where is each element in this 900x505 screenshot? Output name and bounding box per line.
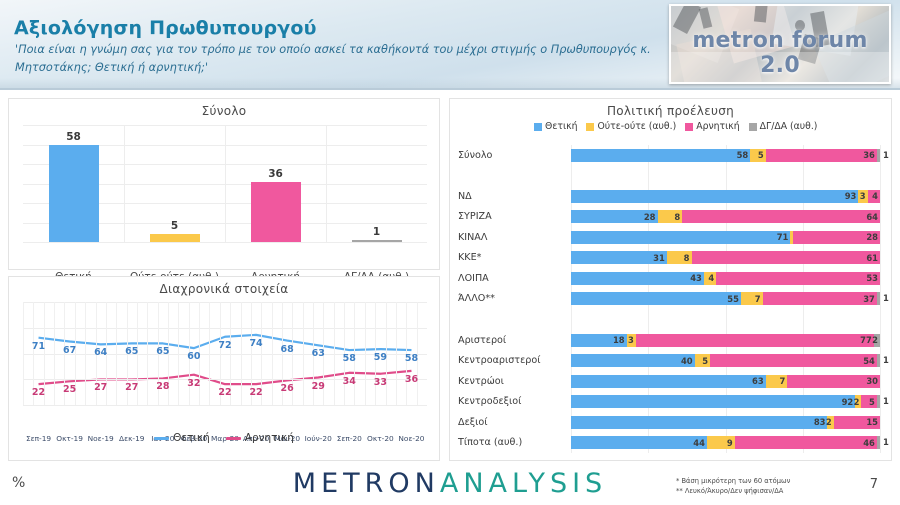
chart-row: Σύνολο585361 (458, 145, 885, 166)
bar-segment-3 (877, 149, 880, 162)
chart-synolo-title: Σύνολο (9, 99, 439, 118)
bar-segment-3 (877, 292, 880, 305)
chart-row: Κεντροαριστεροί405541 (458, 350, 885, 371)
data-point-label: 65 (125, 346, 138, 357)
stacked-bar: 183772 (571, 334, 880, 347)
data-point-label: 22 (218, 387, 231, 398)
legend-swatch (749, 123, 757, 131)
segment-value-label: 5 (869, 397, 877, 407)
page-number: 7 (870, 477, 878, 492)
segment-value-label: 43 (690, 273, 704, 283)
legend-item-Θετική[interactable]: Θετική (154, 432, 210, 444)
bar-segment-1: 4 (704, 272, 716, 285)
segment-value-label: 63 (752, 376, 766, 386)
chart-diaxronika: Διαχρονικά στοιχεία 71676465656072746863… (8, 276, 440, 461)
chart-row: ΣΥΡΙΖΑ28864 (458, 207, 885, 228)
stacked-bar: 43453 (571, 272, 880, 285)
bar-segment-0: 58 (571, 149, 750, 162)
segment-outside-label: 1 (883, 150, 889, 160)
segment-value-label: 40 (681, 356, 695, 366)
segment-value-label: 44 (693, 438, 707, 448)
gridline (23, 405, 427, 406)
segment-value-label: 2 (826, 417, 834, 427)
chart-row: Αριστεροί183772 (458, 330, 885, 351)
bar-segment-2: 36 (766, 149, 877, 162)
vertical-gridline (209, 302, 210, 405)
bar-segment-0: 40 (571, 354, 695, 367)
legend-label: Αρνητική (696, 121, 739, 134)
bar-segment-0: 92 (571, 395, 855, 408)
stacked-bar: 55737 (571, 292, 880, 305)
bar-segment-3 (877, 395, 880, 408)
data-point-label: 74 (249, 338, 262, 349)
vertical-gridline (396, 302, 397, 405)
chart-row: Κεντρώοι63730 (458, 371, 885, 392)
bar-segment-0: 83 (571, 416, 827, 429)
bar-segment-1: 5 (695, 354, 710, 367)
vertical-gridline (303, 302, 304, 405)
bar-segment-2: 15 (834, 416, 880, 429)
bar-column: 58 (23, 125, 124, 242)
data-point-label: 58 (343, 353, 356, 364)
bar-segment-0: 31 (571, 251, 667, 264)
chart-row: ΚΚΕ*31861 (458, 248, 885, 269)
bar-segment-0: 55 (571, 292, 741, 305)
chart-synolo: Σύνολο 58Θετική5Ούτε-ούτε (αυθ.)36Αρνητι… (8, 98, 440, 270)
bar-segment-1: 8 (658, 210, 683, 223)
row-label: Σύνολο (458, 150, 562, 161)
stacked-bar: 9225 (571, 395, 880, 408)
legend-swatch (685, 123, 693, 131)
segment-value-label: 5 (758, 150, 766, 160)
data-point-label: 33 (374, 377, 387, 388)
segment-outside-label: 1 (883, 355, 889, 365)
bar-segment-2: 77 (636, 334, 874, 347)
segment-value-label: 93 (845, 191, 859, 201)
bar-segment-2: 64 (682, 210, 880, 223)
bar-segment-1: 7 (741, 292, 763, 305)
bar-segment-3: 2 (874, 334, 880, 347)
stacked-bar: 63730 (571, 375, 880, 388)
segment-value-label: 36 (863, 150, 877, 160)
bar-column: 1 (326, 125, 427, 242)
segment-value-label: 7 (779, 376, 787, 386)
segment-outside-label: 1 (883, 396, 889, 406)
data-point-label: 72 (218, 340, 231, 351)
data-point-label: 34 (343, 376, 356, 387)
bar-segment-1: 8 (667, 251, 692, 264)
segment-value-label: 37 (863, 294, 877, 304)
data-point-label: 64 (94, 347, 107, 358)
segment-value-label: 46 (863, 438, 877, 448)
segment-value-label: 28 (866, 232, 880, 242)
chart-row: Κεντροδεξιοί92251 (458, 391, 885, 412)
segment-value-label: 4 (708, 273, 716, 283)
footnote-1: * Βάση μικρότερη των 60 ατόμων (676, 476, 790, 486)
row-label: Τίποτα (αυθ.) (458, 437, 562, 448)
vertical-gridline (272, 302, 273, 405)
vertical-gridline (85, 302, 86, 405)
bar-segment-2: 53 (716, 272, 880, 285)
data-point-label: 22 (32, 387, 45, 398)
legend-item-1[interactable]: Ούτε-ούτε (αυθ.) (586, 121, 676, 134)
segment-value-label: 64 (866, 212, 880, 222)
gridline (23, 379, 427, 380)
data-point-label: 60 (187, 351, 200, 362)
segment-value-label: 54 (863, 356, 877, 366)
chart-synolo-plot: 58Θετική5Ούτε-ούτε (αυθ.)36Αρνητική1ΔΓ/Δ… (23, 125, 427, 242)
bar (150, 234, 200, 242)
segment-value-label: 2 (854, 397, 862, 407)
stacked-bar: 58536 (571, 149, 880, 162)
logo-text: metron forum 2.0 (671, 28, 889, 78)
chart-politiki-legend: ΘετικήΟύτε-ούτε (αυθ.)ΑρνητικήΔΓ/ΔΑ (αυθ… (534, 121, 884, 136)
legend-label: Θετική (173, 432, 210, 444)
bar-segment-0: 18 (571, 334, 627, 347)
segment-value-label: 3 (628, 335, 636, 345)
data-point-label: 36 (405, 374, 418, 385)
vertical-gridline (54, 302, 55, 405)
chart-row: Τίποτα (αυθ.)449461 (458, 432, 885, 453)
data-point-label: 28 (156, 381, 169, 392)
segment-value-label: 8 (674, 212, 682, 222)
segment-value-label: 9 (727, 438, 735, 448)
bar-segment-1: 3 (858, 190, 867, 203)
vertical-gridline (178, 302, 179, 405)
bar-value-label: 36 (268, 168, 283, 180)
row-label: ΆΛΛΟ** (458, 293, 562, 304)
segment-value-label: 5 (702, 356, 710, 366)
data-point-label: 32 (187, 378, 200, 389)
data-point-label: 25 (63, 384, 76, 395)
bar-value-label: 5 (171, 220, 178, 232)
footnotes: * Βάση μικρότερη των 60 ατόμων ** Λευκό/… (676, 476, 790, 496)
chart-politiki-title: Πολιτική προέλευση (450, 99, 891, 118)
segment-value-label: 15 (866, 417, 880, 427)
bar-column: 36 (225, 125, 326, 242)
bar-segment-3 (877, 354, 880, 367)
bar-segment-0: 44 (571, 436, 707, 449)
row-label: ΝΔ (458, 191, 562, 202)
vertical-gridline (116, 302, 117, 405)
chart-diaxronika-title: Διαχρονικά στοιχεία (9, 277, 439, 296)
segment-outside-label: 1 (883, 437, 889, 447)
chart-politiki-proelefsi: Πολιτική προέλευση ΘετικήΟύτε-ούτε (αυθ.… (449, 98, 892, 461)
gridline (23, 242, 427, 243)
segment-value-label: 55 (727, 294, 741, 304)
bar-segment-0: 63 (571, 375, 766, 388)
bar-segment-1: 9 (707, 436, 735, 449)
bar-segment-1: 5 (750, 149, 765, 162)
bar-value-label: 1 (373, 226, 380, 238)
row-label: Δεξιοί (458, 417, 562, 428)
data-point-label: 59 (374, 352, 387, 363)
segment-value-label: 31 (653, 253, 667, 263)
segment-value-label: 71 (777, 232, 791, 242)
bar-segment-2: 28 (793, 231, 880, 244)
data-point-label: 27 (94, 382, 107, 393)
bar-column: 5 (124, 125, 225, 242)
question-subtitle: 'Ποια είναι η γνώμη σας για τον τρόπο με… (15, 41, 655, 76)
segment-value-label: 28 (644, 212, 658, 222)
chart-row: ΛΟΙΠΑ43453 (458, 268, 885, 289)
legend-item-0[interactable]: Θετική (534, 121, 577, 134)
data-point-label: 27 (125, 382, 138, 393)
legend-item-Αρνητική[interactable]: Αρνητική (226, 432, 294, 444)
vertical-gridline (334, 302, 335, 405)
bar-segment-2: 37 (763, 292, 877, 305)
legend-item-3[interactable]: ΔΓ/ΔΑ (αυθ.) (749, 121, 818, 134)
gridline (23, 328, 427, 329)
bar-segment-2: 61 (692, 251, 880, 264)
metron-forum-logo: metron forum 2.0 (669, 4, 891, 84)
gridline (23, 302, 427, 303)
chart-diaxronika-legend: ΘετικήΑρνητική (9, 432, 439, 444)
segment-value-label: 3 (860, 191, 868, 201)
segment-value-label: 8 (684, 253, 692, 263)
legend-swatch (534, 123, 542, 131)
chart-row (458, 309, 885, 330)
bar-segment-2: 30 (787, 375, 880, 388)
data-point-label: 68 (281, 344, 294, 355)
bar-segment-1: 7 (766, 375, 788, 388)
row-label: Αριστεροί (458, 335, 562, 346)
stacked-bar: 28864 (571, 210, 880, 223)
segment-value-label: 2 (872, 335, 880, 345)
bar-segment-0: 28 (571, 210, 658, 223)
chart-diaxronika-plot: 7167646565607274686358595822252727283222… (23, 302, 427, 405)
legend-item-2[interactable]: Αρνητική (685, 121, 739, 134)
segment-value-label: 61 (866, 253, 880, 263)
vertical-gridline (147, 302, 148, 405)
segment-outside-label: 1 (883, 293, 889, 303)
row-label: ΚΙΝΑΛ (458, 232, 562, 243)
segment-value-label: 4 (872, 191, 880, 201)
row-label: Κεντρώοι (458, 376, 562, 387)
chart-row: ΚΙΝΑΛ7128 (458, 227, 885, 248)
brand-analysis: ANALYSIS (440, 468, 607, 499)
bar-value-label: 58 (66, 131, 81, 143)
page-title: Αξιολόγηση Πρωθυπουργού (14, 17, 317, 39)
chart-row: ΝΔ9334 (458, 186, 885, 207)
stacked-bar: 40554 (571, 354, 880, 367)
data-point-label: 67 (63, 345, 76, 356)
bar (251, 182, 301, 242)
chart-row (458, 166, 885, 187)
bar (49, 145, 99, 242)
footnote-2: ** Λευκό/Άκυρο/Δεν ψήφισαν/ΔΑ (676, 486, 790, 496)
vertical-gridline (23, 302, 24, 405)
data-point-label: 71 (32, 341, 45, 352)
segment-value-label: 18 (613, 335, 627, 345)
stacked-bar: 83215 (571, 416, 880, 429)
stacked-bar: 44946 (571, 436, 880, 449)
segment-value-label: 58 (737, 150, 751, 160)
bar-segment-0: 71 (571, 231, 790, 244)
bar-segment-2: 5 (861, 395, 876, 408)
legend-label: ΔΓ/ΔΑ (αυθ.) (760, 121, 818, 134)
slide-footer: % METRONANALYSIS * Βάση μικρότερη των 60… (0, 463, 900, 505)
slide-root: Αξιολόγηση Πρωθυπουργού 'Ποια είναι η γν… (0, 0, 900, 505)
bar-segment-1: 3 (627, 334, 636, 347)
stacked-bar: 31861 (571, 251, 880, 264)
bar-segment-2: 54 (710, 354, 877, 367)
bar-segment-0: 93 (571, 190, 858, 203)
legend-swatch (154, 437, 169, 440)
bar-segment-0: 43 (571, 272, 704, 285)
data-point-label: 22 (249, 387, 262, 398)
stacked-bar: 7128 (571, 231, 880, 244)
chart-politiki-plot: Σύνολο585361ΝΔ9334ΣΥΡΙΖΑ28864ΚΙΝΑΛ7128ΚΚ… (458, 145, 885, 453)
data-point-label: 63 (312, 348, 325, 359)
bar (352, 240, 402, 242)
data-point-label: 29 (312, 381, 325, 392)
gridline (23, 354, 427, 355)
segment-value-label: 30 (866, 376, 880, 386)
chart-row: Δεξιοί83215 (458, 412, 885, 433)
legend-label: Θετική (545, 121, 577, 134)
segment-value-label: 53 (866, 273, 880, 283)
row-label: ΚΚΕ* (458, 252, 562, 263)
row-label: Κεντροαριστεροί (458, 355, 562, 366)
bar-segment-2: 4 (868, 190, 880, 203)
row-label: Κεντροδεξιοί (458, 396, 562, 407)
vertical-gridline (365, 302, 366, 405)
row-label: ΛΟΙΠΑ (458, 273, 562, 284)
stacked-bar: 9334 (571, 190, 880, 203)
legend-swatch (226, 437, 241, 440)
data-point-label: 65 (156, 346, 169, 357)
bar-segment-2: 46 (735, 436, 877, 449)
legend-label: Ούτε-ούτε (αυθ.) (597, 121, 676, 134)
data-point-label: 58 (405, 353, 418, 364)
chart-row: ΆΛΛΟ**557371 (458, 289, 885, 310)
brand-metron: METRON (293, 468, 440, 499)
vertical-gridline (241, 302, 242, 405)
legend-label: Αρνητική (245, 432, 294, 444)
legend-swatch (586, 123, 594, 131)
data-point-label: 26 (281, 383, 294, 394)
row-label: ΣΥΡΙΖΑ (458, 211, 562, 222)
segment-value-label: 7 (755, 294, 763, 304)
bar-segment-3 (877, 436, 880, 449)
